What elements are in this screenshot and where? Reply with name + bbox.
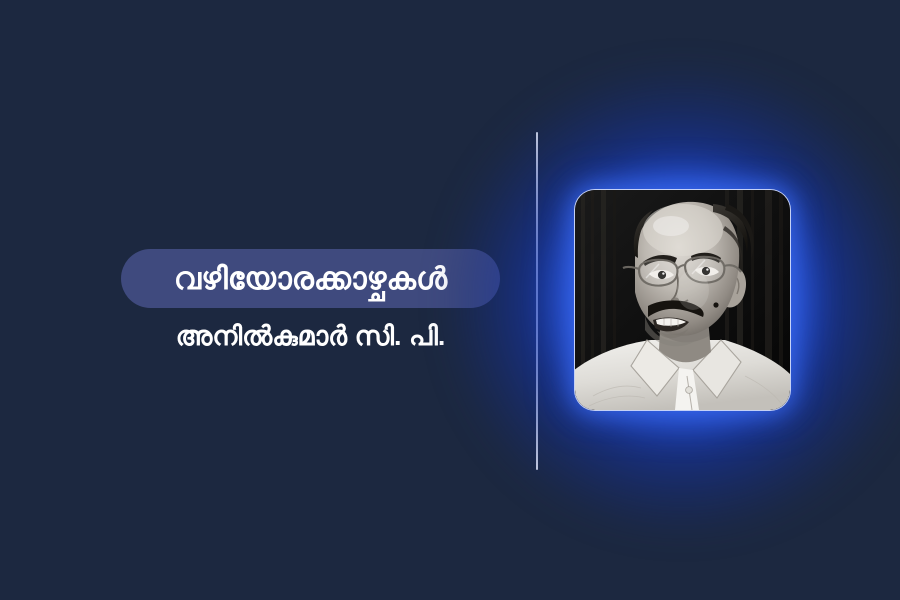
avatar [575,190,790,410]
author-name: അനിൽകുമാർ സി. പി. [121,320,500,352]
portrait-container [575,190,790,410]
portrait-photo-icon [575,190,790,410]
cover-canvas: വഴിയോരക്കാഴ്ചകൾ അനിൽകുമാർ സി. പി. [0,0,900,600]
title-pill: വഴിയോരക്കാഴ്ചകൾ [121,249,500,308]
vertical-divider [536,132,538,470]
cover-text-block: വഴിയോരക്കാഴ്ചകൾ അനിൽകുമാർ സി. പി. [0,0,520,600]
page-title: വഴിയോരക്കാഴ്ചകൾ [174,263,447,294]
